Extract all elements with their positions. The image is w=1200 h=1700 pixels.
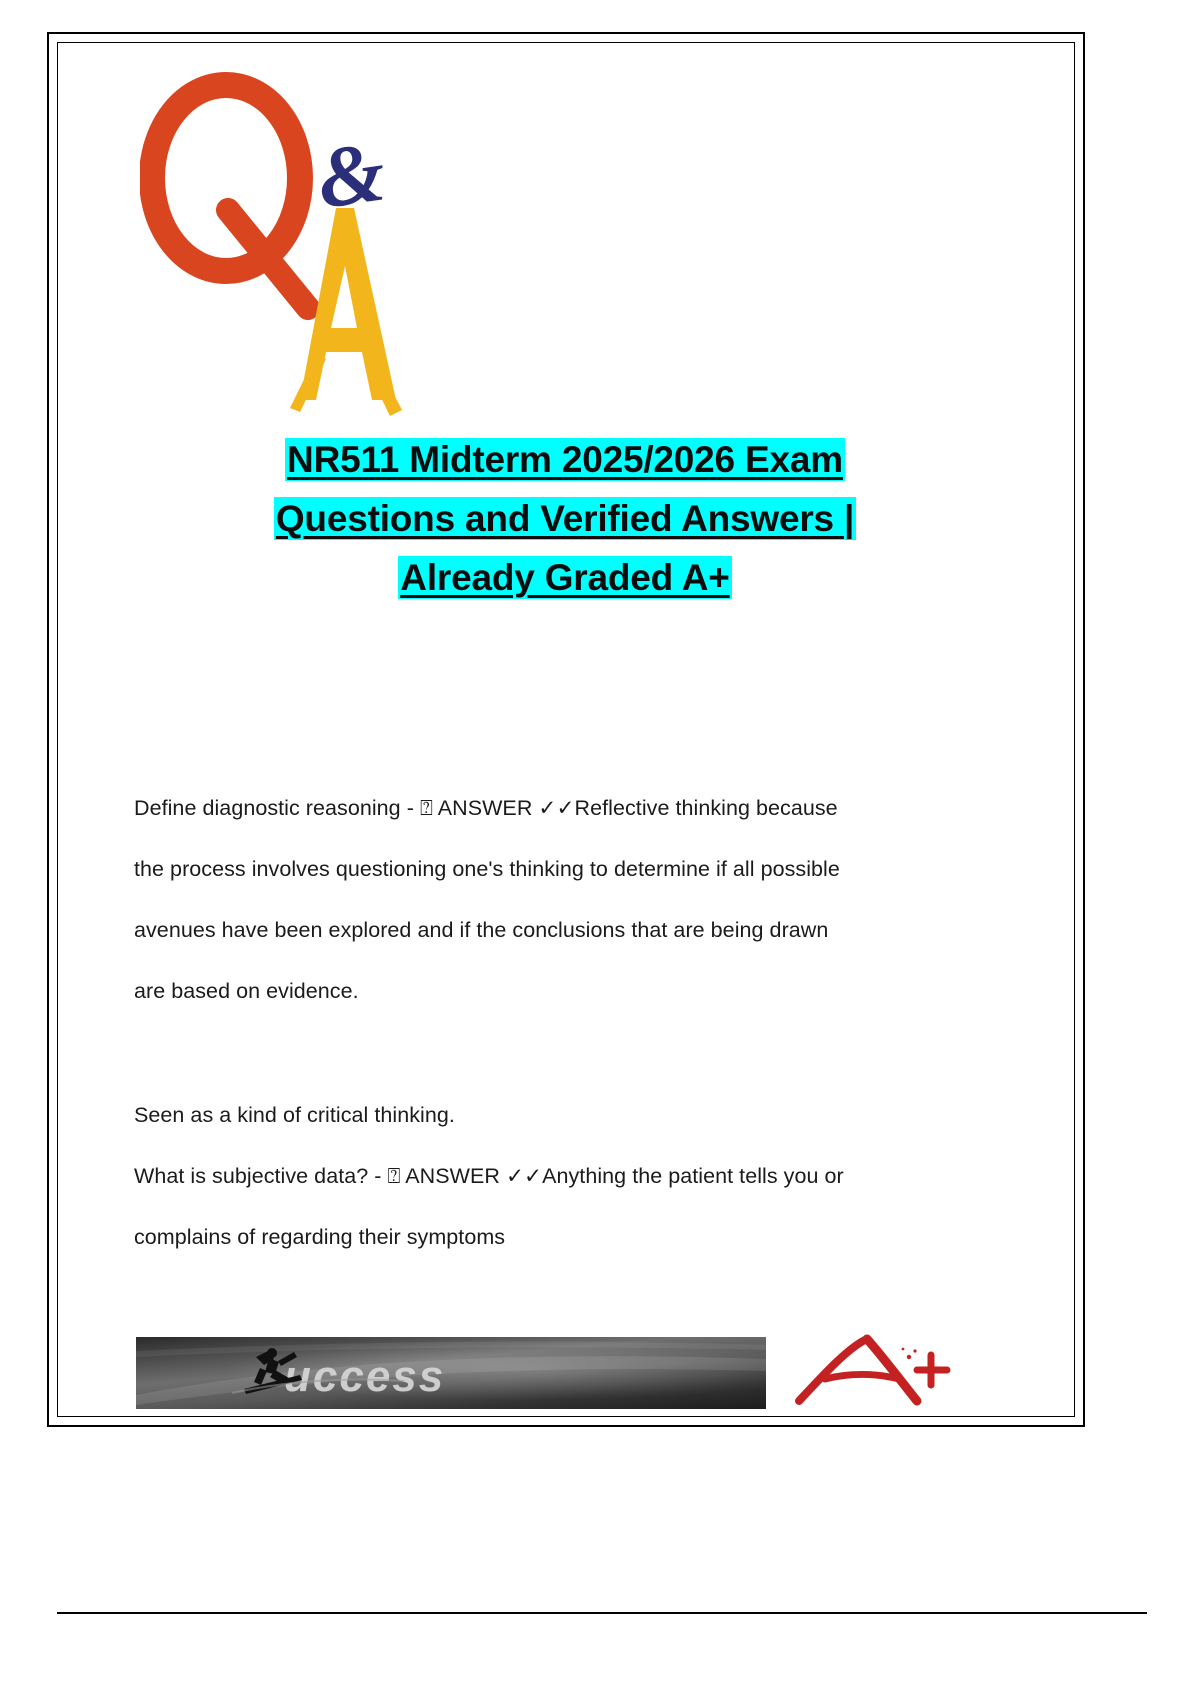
title-line-3: Already Graded A+ <box>150 548 980 607</box>
title-line-1: NR511 Midterm 2025/2026 Exam <box>150 430 980 489</box>
body-line-7-text: complains of regarding their symptoms <box>134 1225 505 1249</box>
logo-letter-q <box>152 85 316 316</box>
page-bottom-rule <box>57 1612 1147 1614</box>
svg-text:&: & <box>311 122 391 226</box>
body-line-1: Define diagnostic reasoning - ⍰ ANSWER ✓… <box>134 778 996 839</box>
body-line-1-text: Define diagnostic reasoning - ⍰ ANSWER ✓… <box>134 796 838 820</box>
body-line-3-text: avenues have been explored and if the co… <box>134 918 828 942</box>
body-line-7: complains of regarding their symptoms <box>134 1207 996 1268</box>
success-banner-image: uccess <box>136 1337 766 1409</box>
body-line-6-text: What is subjective data? - ⍰ ANSWER ✓✓An… <box>134 1164 844 1188</box>
body-line-4-text: are based on evidence. <box>134 979 359 1003</box>
svg-text:uccess: uccess <box>284 1352 445 1401</box>
footer-image-row: uccess <box>136 1337 976 1409</box>
document-title: NR511 Midterm 2025/2026 Exam Questions a… <box>150 430 980 607</box>
title-line-1-text: NR511 Midterm 2025/2026 Exam <box>285 438 845 481</box>
body-line-6: What is subjective data? - ⍰ ANSWER ✓✓An… <box>134 1146 996 1207</box>
document-body: Define diagnostic reasoning - ⍰ ANSWER ✓… <box>134 778 996 1268</box>
title-line-2: Questions and Verified Answers | <box>150 489 980 548</box>
body-line-5: Seen as a kind of critical thinking. <box>134 1085 996 1146</box>
a-plus-grade-logo <box>791 1333 976 1409</box>
title-line-3-text: Already Graded A+ <box>398 556 731 599</box>
body-line-5-text: Seen as a kind of critical thinking. <box>134 1103 455 1127</box>
body-line-2-text: the process involves questioning one's t… <box>134 857 840 881</box>
title-line-2-text: Questions and Verified Answers | <box>274 497 856 540</box>
body-line-2: the process involves questioning one's t… <box>134 839 996 900</box>
body-line-4: are based on evidence. <box>134 961 996 1022</box>
logo-ampersand: & <box>311 122 391 226</box>
qa-logo: & <box>140 60 420 430</box>
body-line-3: avenues have been explored and if the co… <box>134 900 996 961</box>
